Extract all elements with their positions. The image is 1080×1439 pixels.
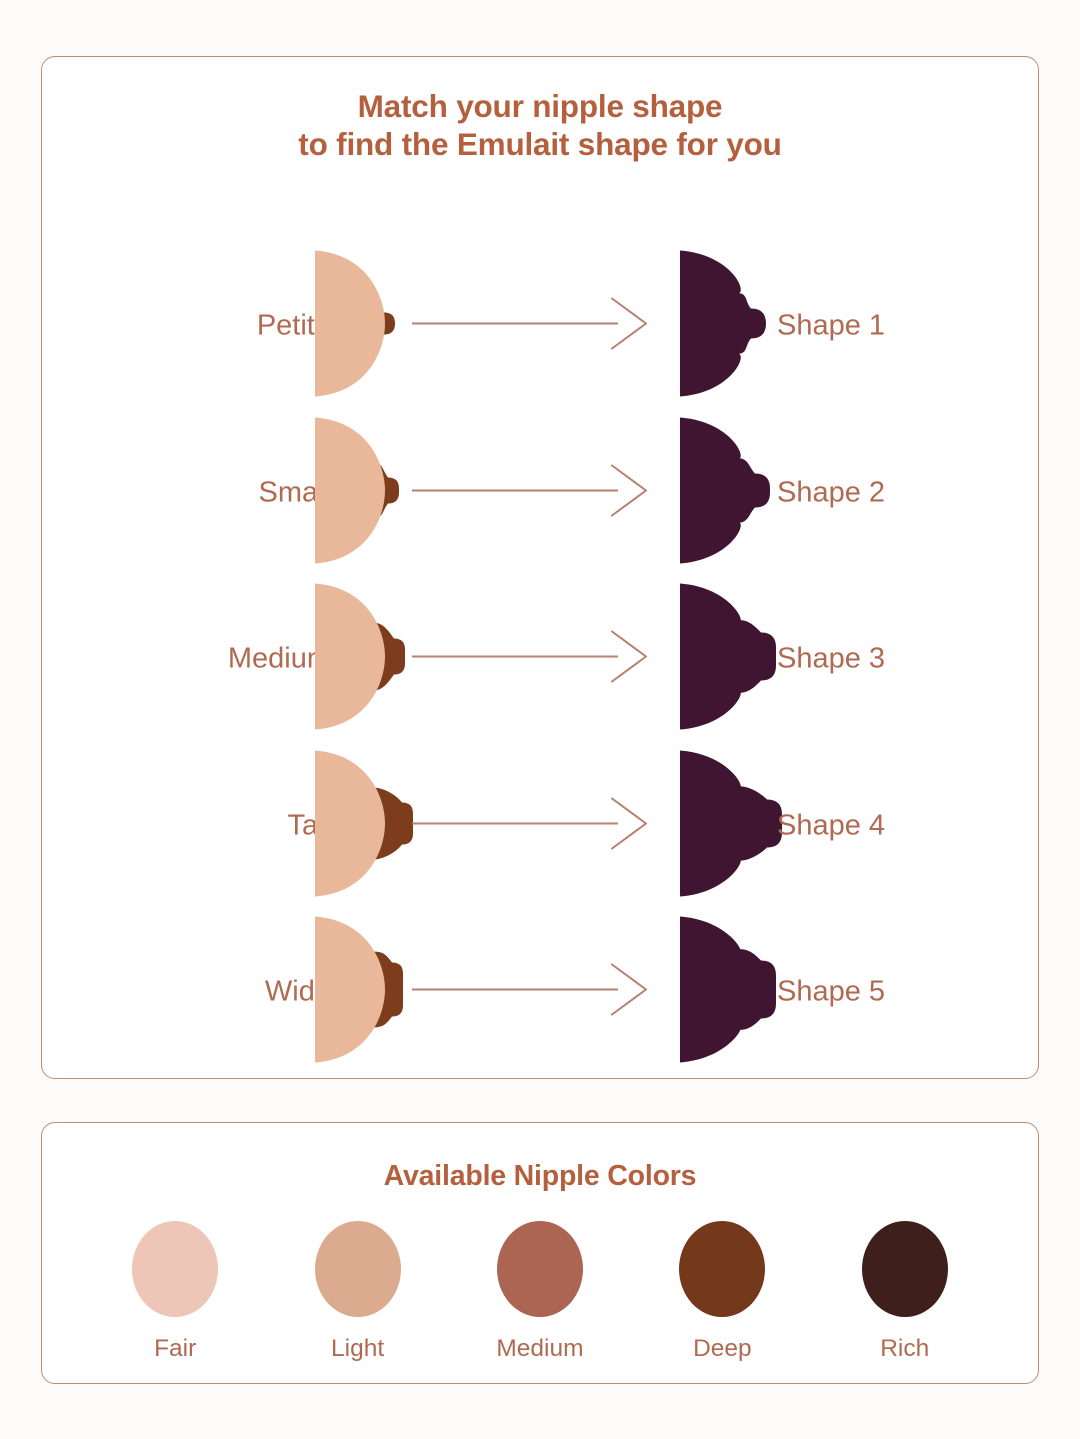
color-swatch[interactable]: Light <box>283 1221 433 1362</box>
emulait-teat-icon <box>672 574 792 745</box>
color-swatch-label: Rich <box>880 1337 929 1362</box>
colors-card-title: Available Nipple Colors <box>42 1159 1038 1193</box>
breast-profile-icon <box>307 241 427 412</box>
emulait-teat-icon <box>672 740 792 911</box>
shape-match-card: Match your nipple shape to find the Emul… <box>41 56 1039 1079</box>
shape-match-row: Wide Shape 5 <box>42 909 1038 1076</box>
color-swatch-dot[interactable] <box>679 1221 765 1317</box>
shape-card-title: Match your nipple shape to find the Emul… <box>42 87 1038 163</box>
color-swatch-label: Medium <box>496 1337 583 1362</box>
color-swatch-label: Light <box>331 1337 384 1362</box>
color-swatch[interactable]: Fair <box>100 1221 250 1362</box>
color-swatch[interactable]: Deep <box>647 1221 797 1362</box>
emulait-shape-label: Shape 2 <box>777 478 885 507</box>
color-swatch[interactable]: Rich <box>830 1221 980 1362</box>
color-swatch-dot[interactable] <box>497 1221 583 1317</box>
emulait-shape-label: Shape 1 <box>777 312 885 341</box>
shape-match-row: Medium Shape 3 <box>42 576 1038 743</box>
infographic-page: Match your nipple shape to find the Emul… <box>0 0 1080 1439</box>
shape-match-row: Tall Shape 4 <box>42 743 1038 910</box>
emulait-shape-label: Shape 3 <box>777 645 885 674</box>
shape-row-list: Petite Shape 1Small Shape 2Medium Shape … <box>42 243 1038 1076</box>
breast-profile-icon <box>307 574 427 745</box>
color-swatch-dot[interactable] <box>132 1221 218 1317</box>
arrow-right-icon <box>410 627 648 692</box>
color-swatch-list: FairLightMediumDeepRich <box>42 1221 1038 1362</box>
arrow-right-icon <box>410 793 648 858</box>
shape-card-title-line-2: to find the Emulait shape for you <box>42 125 1038 163</box>
shape-match-row: Petite Shape 1 <box>42 243 1038 410</box>
emulait-shape-label: Shape 5 <box>777 978 885 1007</box>
shape-match-row: Small Shape 2 <box>42 410 1038 577</box>
arrow-right-icon <box>410 294 648 359</box>
emulait-teat-icon <box>672 907 792 1078</box>
color-swatch[interactable]: Medium <box>465 1221 615 1362</box>
breast-profile-icon <box>307 907 427 1078</box>
color-swatch-label: Fair <box>154 1337 196 1362</box>
color-swatch-dot[interactable] <box>315 1221 401 1317</box>
emulait-teat-icon <box>672 241 792 412</box>
breast-profile-icon <box>307 740 427 911</box>
emulait-shape-label: Shape 4 <box>777 811 885 840</box>
breast-profile-icon <box>307 407 427 578</box>
arrow-right-icon <box>410 960 648 1025</box>
emulait-teat-icon <box>672 407 792 578</box>
available-colors-card: Available Nipple Colors FairLightMediumD… <box>41 1122 1039 1384</box>
shape-card-title-line-1: Match your nipple shape <box>42 87 1038 125</box>
color-swatch-dot[interactable] <box>862 1221 948 1317</box>
color-swatch-label: Deep <box>693 1337 752 1362</box>
arrow-right-icon <box>410 460 648 525</box>
